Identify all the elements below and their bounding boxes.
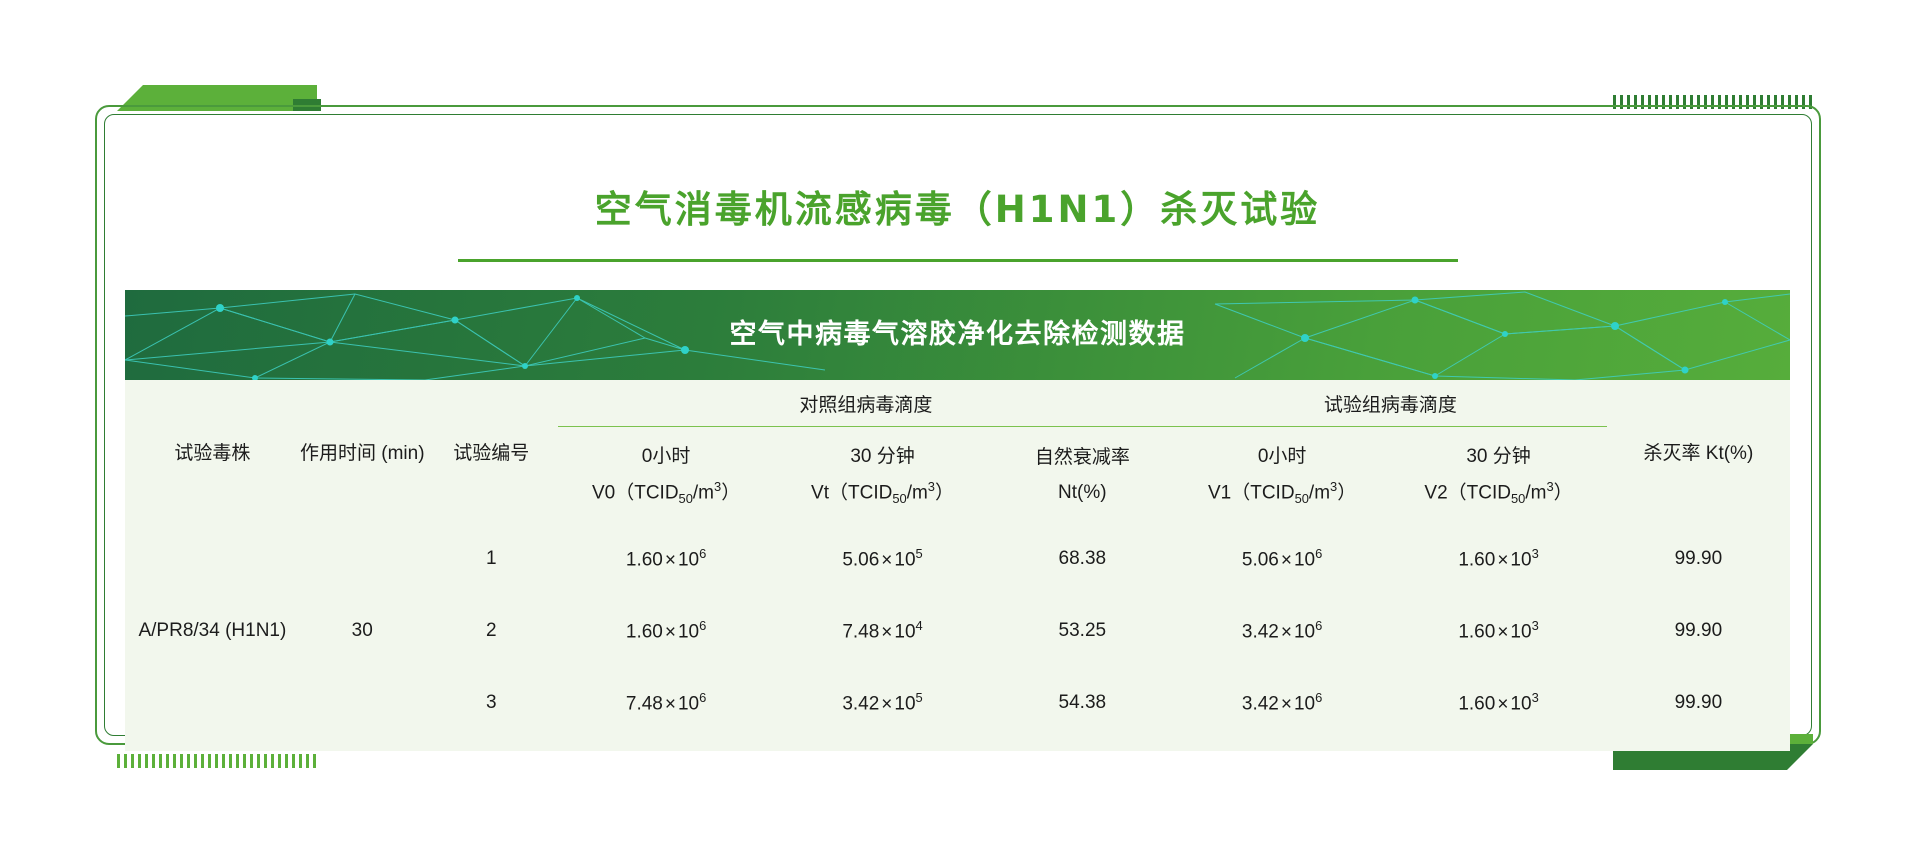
cell-vt: 5.06×105: [774, 523, 990, 595]
cell-v2: 1.60×103: [1390, 595, 1606, 667]
cell-test-no: 2: [425, 595, 558, 667]
page-title: 空气消毒机流感病毒（H1N1）杀灭试验: [125, 179, 1790, 233]
group-header-control: 对照组病毒滴度: [558, 380, 1174, 427]
cell-strain: A/PR8/34 (H1N1): [125, 523, 300, 739]
unit-label-v0: V0（TCID50/m3）: [558, 475, 774, 511]
col-header-v1: 0小时 V1（TCID50/m3）: [1174, 427, 1390, 524]
cell-test-no: 1: [425, 523, 558, 595]
tick-strip-bottom-left: [117, 754, 317, 768]
cell-vt: 7.48×104: [774, 595, 990, 667]
cell-v0: 1.60×106: [558, 523, 774, 595]
cell-nt: 68.38: [991, 523, 1174, 595]
cell-test-no: 3: [425, 667, 558, 739]
col-header-strain: 试验毒株: [125, 380, 300, 523]
cell-v2: 1.60×103: [1390, 667, 1606, 739]
cell-v2: 1.60×103: [1390, 523, 1606, 595]
cell-vt: 3.42×105: [774, 667, 990, 739]
cell-nt: 53.25: [991, 595, 1174, 667]
cell-contact-time: 30: [300, 523, 425, 739]
col-header-nt: 自然衰减率 Nt(%): [991, 427, 1174, 524]
content-area: 空气消毒机流感病毒（H1N1）杀灭试验: [125, 133, 1790, 719]
unit-label-v2: V2（TCID50/m3）: [1390, 475, 1606, 511]
cell-kt: 99.90: [1607, 595, 1790, 667]
table-row: A/PR8/34 (H1N1) 30 1 1.60×106 5.06×105 6…: [125, 523, 1790, 595]
data-table-wrapper: 试验毒株 作用时间 (min) 试验编号 对照组病毒滴度 试验组病毒滴度 杀灭率…: [125, 380, 1790, 751]
cell-kt: 99.90: [1607, 667, 1790, 739]
cell-v0: 1.60×106: [558, 595, 774, 667]
cell-v1: 3.42×106: [1174, 667, 1390, 739]
cell-nt: 54.38: [991, 667, 1174, 739]
section-banner: 空气中病毒气溶胶净化去除检测数据: [125, 290, 1790, 380]
unit-label-vt: Vt（TCID50/m3）: [774, 475, 990, 511]
cell-v1: 3.42×106: [1174, 595, 1390, 667]
cell-v0: 7.48×106: [558, 667, 774, 739]
virus-titer-table: 试验毒株 作用时间 (min) 试验编号 对照组病毒滴度 试验组病毒滴度 杀灭率…: [125, 380, 1790, 739]
col-header-vt: 30 分钟 Vt（TCID50/m3）: [774, 427, 990, 524]
col-header-kill-rate: 杀灭率 Kt(%): [1607, 380, 1790, 523]
cell-v1: 5.06×106: [1174, 523, 1390, 595]
cell-kt: 99.90: [1607, 523, 1790, 595]
decorative-frame: 空气消毒机流感病毒（H1N1）杀灭试验: [95, 85, 1825, 770]
banner-title: 空气中病毒气溶胶净化去除检测数据: [125, 290, 1790, 380]
col-header-v2: 30 分钟 V2（TCID50/m3）: [1390, 427, 1606, 524]
group-header-test: 试验组病毒滴度: [1174, 380, 1607, 427]
title-underline-rule: [458, 259, 1458, 262]
col-header-v0: 0小时 V0（TCID50/m3）: [558, 427, 774, 524]
col-header-test-no: 试验编号: [425, 380, 558, 523]
unit-label-v1: V1（TCID50/m3）: [1174, 475, 1390, 511]
col-header-contact-time: 作用时间 (min): [300, 380, 425, 523]
table-group-header-row: 试验毒株 作用时间 (min) 试验编号 对照组病毒滴度 试验组病毒滴度 杀灭率…: [125, 380, 1790, 427]
